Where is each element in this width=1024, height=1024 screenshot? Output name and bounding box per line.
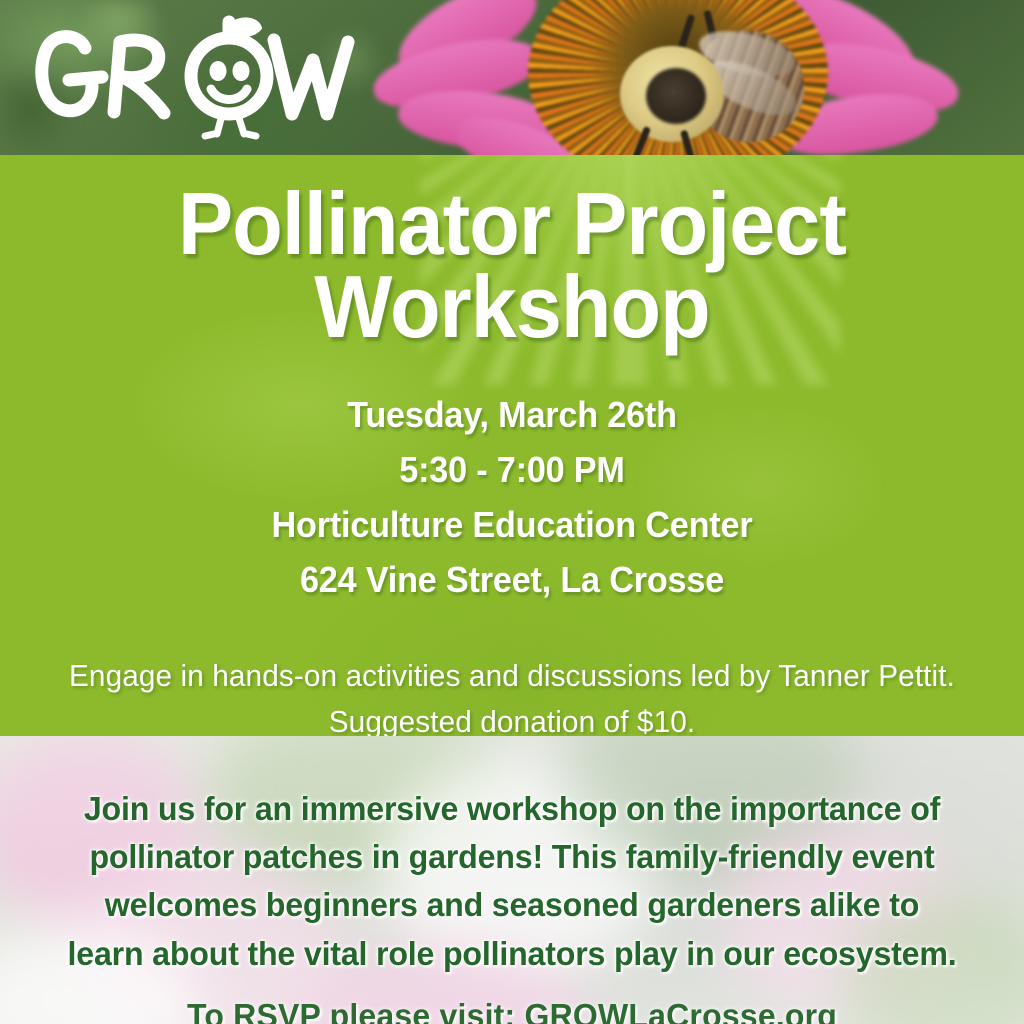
logo-mascot-leg-right <box>238 115 256 136</box>
title-line-2: Workshop <box>31 266 994 349</box>
description-line-3: welcomes beginners and seasoned gardener… <box>38 882 986 930</box>
event-description: Join us for an immersive workshop on the… <box>20 786 1003 979</box>
event-note: Engage in hands-on activities and discus… <box>20 653 1003 736</box>
note-line-2: Suggested donation of $10. <box>20 699 1003 736</box>
event-address: 624 Vine Street, La Crosse <box>26 553 999 608</box>
note-line-1: Engage in hands-on activities and discus… <box>20 653 1003 698</box>
event-venue: Horticulture Education Center <box>26 498 999 553</box>
description-line-4: learn about the vital role pollinators p… <box>38 931 986 979</box>
flyer-canvas: Pollinator Project Workshop Tuesday, Mar… <box>0 0 1024 1024</box>
description-line-1: Join us for an immersive workshop on the… <box>38 786 986 834</box>
logo-mascot-eyes <box>210 61 250 81</box>
title-line-1: Pollinator Project <box>31 183 994 266</box>
logo-mascot-smile <box>211 89 247 100</box>
event-date: Tuesday, March 26th <box>26 388 999 443</box>
grow-logo[interactable] <box>24 14 354 139</box>
page-title: Pollinator Project Workshop <box>31 183 994 348</box>
event-time: 5:30 - 7:00 PM <box>26 443 999 498</box>
leaf-icon <box>229 19 260 34</box>
blurred-flower-photo: Join us for an immersive workshop on the… <box>0 736 1024 1024</box>
bumblebee <box>598 18 808 153</box>
logo-mascot-leg-left <box>205 115 222 136</box>
logo-letter-w <box>274 40 348 114</box>
logo-letter-g-bar <box>69 77 102 80</box>
description-line-2: pollinator patches in gardens! This fami… <box>38 834 986 882</box>
logo-letter-r <box>114 40 164 113</box>
green-info-band: Pollinator Project Workshop Tuesday, Mar… <box>0 155 1024 736</box>
rsvp-link[interactable]: To RSVP please visit: GROWLaCrosse.org <box>15 997 1008 1024</box>
event-details: Tuesday, March 26th 5:30 - 7:00 PM Horti… <box>26 388 999 607</box>
bee-head <box>646 68 706 124</box>
